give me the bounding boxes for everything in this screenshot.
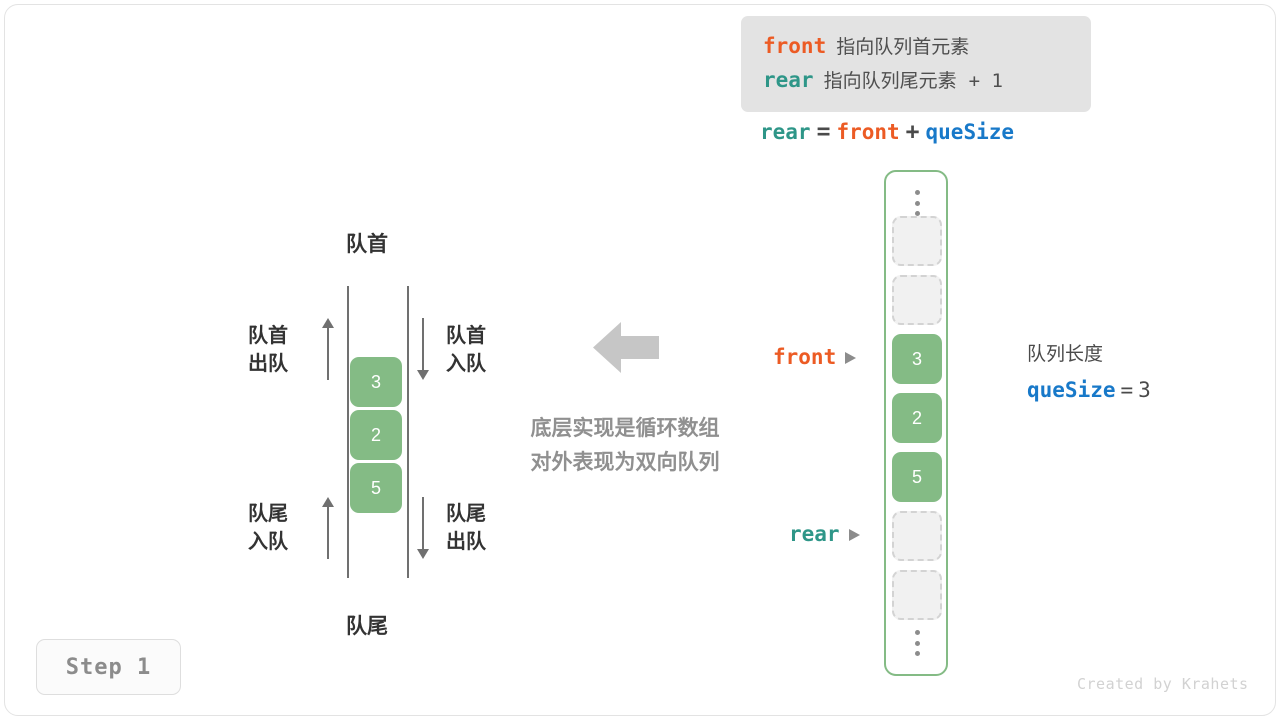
- rear-pointer-text: rear: [789, 522, 840, 546]
- op-label-head-dequeue: 队首 出队: [248, 322, 288, 378]
- legend-line-rear: rear指向队列尾元素+ 1: [763, 63, 1091, 97]
- deque-head-label: 队首: [346, 228, 388, 258]
- deque-tail-label: 队尾: [346, 610, 388, 640]
- array-cell-empty: [892, 570, 942, 620]
- arrow-right-icon: [845, 352, 856, 364]
- step-badge: Step 1: [36, 639, 181, 695]
- array-cell-value: 2: [912, 408, 922, 429]
- dot: [915, 651, 920, 656]
- arrow-shaft: [422, 497, 424, 551]
- implementation-caption: 底层实现是循环数组 对外表现为双向队列: [503, 412, 747, 480]
- quesize-value: 3: [1138, 378, 1151, 402]
- arrow-left-big-icon: [593, 320, 659, 375]
- array-cell-empty: [892, 275, 942, 325]
- deque-cell: 3: [350, 357, 402, 407]
- quesize-var: queSize: [1027, 378, 1116, 402]
- array-cell-filled: 2: [892, 393, 942, 443]
- deque-cell-value: 3: [371, 372, 381, 393]
- array-cell-filled-front: 3: [892, 334, 942, 384]
- arrowhead: [417, 370, 429, 380]
- queue-size-note: 队列长度 queSize=3: [1027, 341, 1151, 404]
- array-ellipsis-bottom: [912, 630, 922, 656]
- op-label-tail-dequeue: 队尾 出队: [446, 500, 486, 556]
- dot: [915, 190, 920, 195]
- deque-cell: 2: [350, 410, 402, 460]
- caption-line-1: 底层实现是循环数组: [503, 412, 747, 446]
- figure-canvas: front指向队列首元素 rear指向队列尾元素+ 1 rear=front+q…: [0, 0, 1280, 720]
- front-description: 指向队列首元素: [836, 37, 969, 58]
- op-line: 队首: [248, 322, 288, 350]
- legend-line-front: front指向队列首元素: [763, 29, 1091, 63]
- op-line: 入队: [248, 528, 288, 556]
- arrowhead: [417, 549, 429, 559]
- arrow-up-icon: [320, 497, 336, 559]
- rear-description: 指向队列尾元素: [824, 71, 957, 92]
- deque-rail-left: [347, 286, 349, 578]
- circular-array-container: 3 2 5: [884, 170, 948, 676]
- arrow-shaft: [327, 505, 329, 559]
- op-line: 队首: [446, 322, 486, 350]
- dot: [915, 641, 920, 646]
- front-pointer-label: front: [773, 345, 856, 369]
- queue-size-equation: queSize=3: [1027, 377, 1151, 404]
- array-cell-empty: [892, 216, 942, 266]
- arrow-right-icon: [849, 529, 860, 541]
- rear-formula: rear=front+queSize: [760, 118, 1014, 145]
- formula-rear: rear: [760, 120, 811, 144]
- rear-keyword: rear: [763, 68, 814, 92]
- op-label-tail-enqueue: 队尾 入队: [248, 500, 288, 556]
- array-cell-value: 5: [912, 467, 922, 488]
- front-keyword: front: [763, 34, 826, 58]
- arrow-shaft: [327, 326, 329, 380]
- dot: [915, 201, 920, 206]
- array-cell-empty-rear: [892, 511, 942, 561]
- credit-text: Created by Krahets: [1077, 675, 1249, 693]
- caption-line-2: 对外表现为双向队列: [503, 446, 747, 480]
- formula-front: front: [836, 120, 899, 144]
- arrow-down-icon: [415, 497, 431, 559]
- formula-plus: +: [906, 119, 920, 145]
- rear-pointer-label: rear: [789, 522, 860, 546]
- op-label-head-enqueue: 队首 入队: [446, 322, 486, 378]
- arrow-up-icon: [320, 318, 336, 380]
- deque-rail-right: [407, 286, 409, 578]
- formula-equals: =: [817, 119, 831, 145]
- array-cell-filled: 5: [892, 452, 942, 502]
- op-line: 队尾: [446, 500, 486, 528]
- formula-quesize: queSize: [926, 120, 1015, 144]
- deque-cell-value: 2: [371, 425, 381, 446]
- quesize-equals: =: [1121, 378, 1134, 402]
- pointer-legend-box: front指向队列首元素 rear指向队列尾元素+ 1: [741, 16, 1091, 112]
- arrow-down-icon: [415, 318, 431, 380]
- deque-cell: 5: [350, 463, 402, 513]
- op-line: 出队: [446, 528, 486, 556]
- array-ellipsis-top: [912, 190, 922, 216]
- queue-size-label: 队列长度: [1027, 341, 1151, 369]
- front-pointer-text: front: [773, 345, 836, 369]
- array-cell-value: 3: [912, 349, 922, 370]
- rear-offset: + 1: [969, 70, 1003, 92]
- deque-cell-value: 5: [371, 478, 381, 499]
- arrow-shaft: [422, 318, 424, 372]
- op-line: 队尾: [248, 500, 288, 528]
- op-line: 入队: [446, 350, 486, 378]
- dot: [915, 630, 920, 635]
- op-line: 出队: [248, 350, 288, 378]
